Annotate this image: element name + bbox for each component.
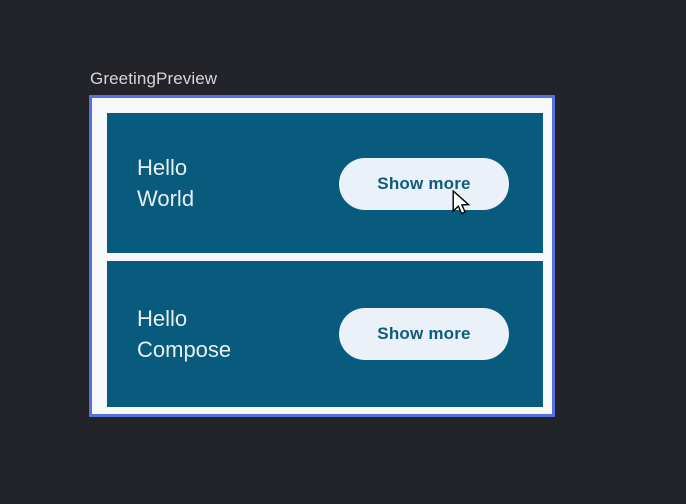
greeting-text: Hello Compose xyxy=(137,303,231,365)
greeting-card-list: Hello World Show more Hello Compose Show… xyxy=(107,113,543,407)
preview-frame: Hello World Show more Hello Compose Show… xyxy=(89,95,555,417)
preview-label: GreetingPreview xyxy=(90,67,217,91)
show-more-button[interactable]: Show more xyxy=(339,308,509,360)
greeting-card: Hello Compose Show more xyxy=(107,261,543,407)
show-more-button[interactable]: Show more xyxy=(339,158,509,210)
greeting-card: Hello World Show more xyxy=(107,113,543,253)
greeting-text: Hello World xyxy=(137,152,194,214)
